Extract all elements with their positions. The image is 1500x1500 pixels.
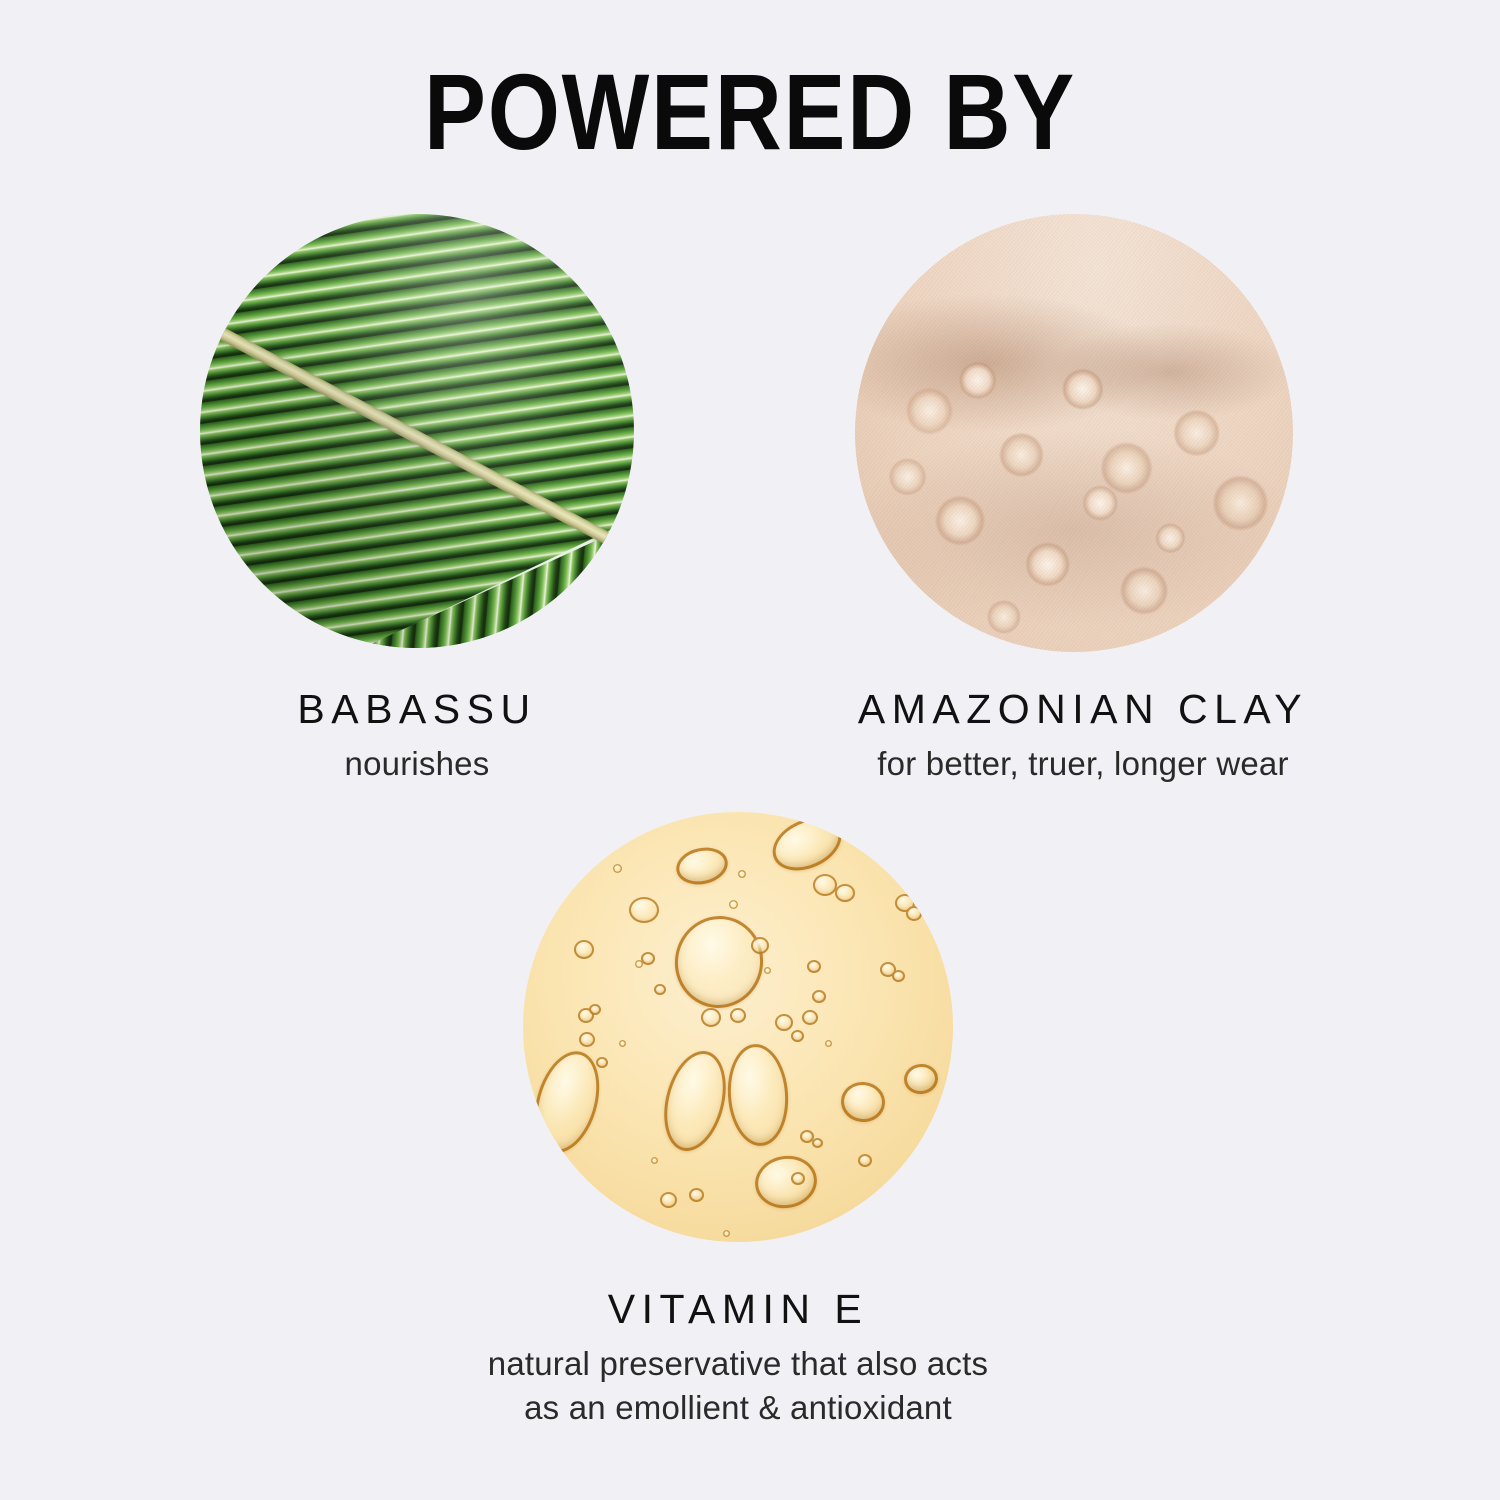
powered-by-panel: POWERED BY BABASSU nourishes AMAZONIAN C…: [0, 0, 1500, 1500]
vitamin-e-name: VITAMIN E: [335, 1286, 1141, 1333]
vitamin-e-image: [523, 812, 953, 1242]
clay-grain-layer: [855, 214, 1293, 652]
amazonian-clay-name: AMAZONIAN CLAY: [666, 686, 1500, 733]
page-title: POWERED BY: [105, 56, 1395, 168]
vitamin-e-description-line-1: natural preservative that also acts: [335, 1342, 1141, 1386]
palm-frond-icon: [200, 214, 634, 648]
amazonian-clay-description: for better, truer, longer wear: [666, 742, 1500, 786]
vitamin-e-description: natural preservative that also acts as a…: [335, 1342, 1141, 1430]
babassu-image: [200, 214, 634, 648]
vitamin-e-description-line-2: as an emollient & antioxidant: [335, 1386, 1141, 1430]
amazonian-clay-image: [855, 214, 1293, 652]
